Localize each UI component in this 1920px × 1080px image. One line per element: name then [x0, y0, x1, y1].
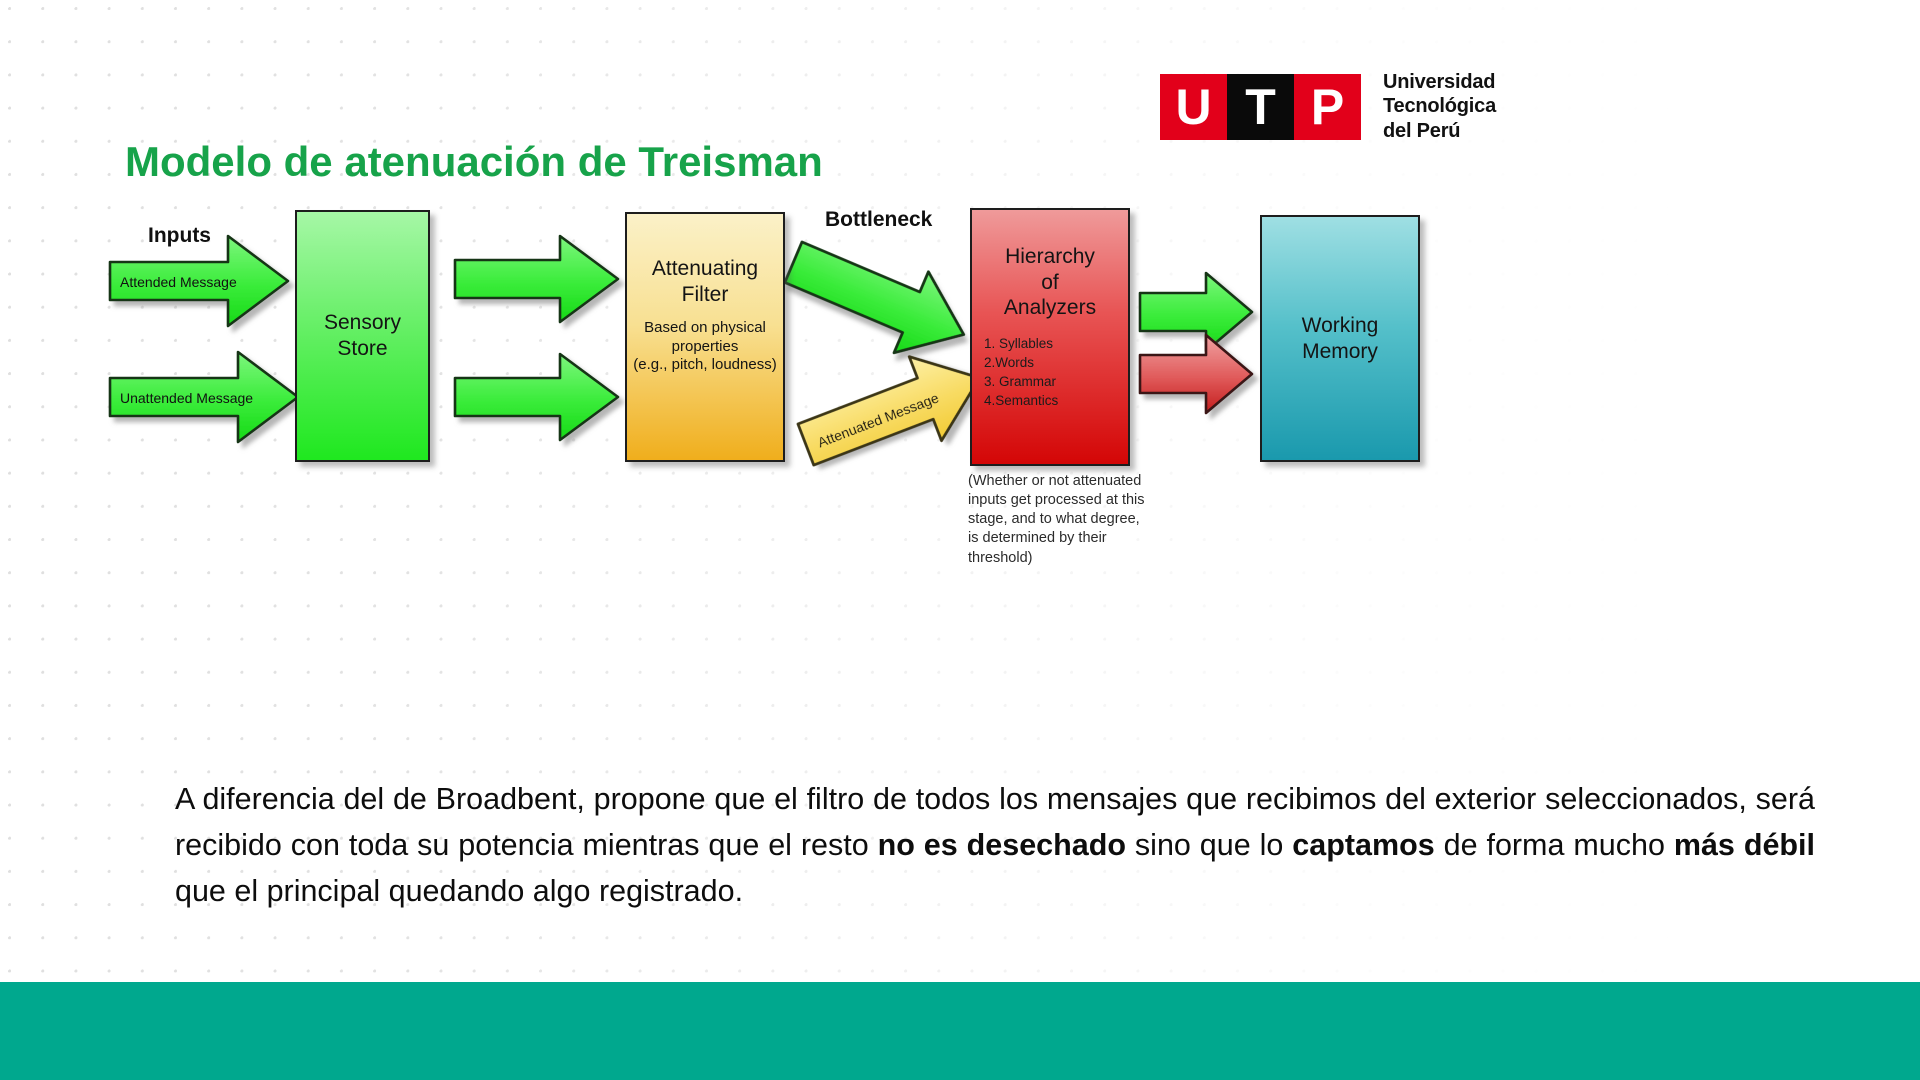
utp-logo-mark: U T P — [1160, 74, 1361, 140]
diagram-label-inputs: Inputs — [148, 224, 211, 248]
logo-word-line-3: del Perú — [1383, 119, 1496, 143]
hierarchy-title-line-2: of — [1041, 270, 1059, 296]
paragraph-part-2: sino que lo — [1126, 828, 1292, 862]
hierarchy-analyzer-list: 1. Syllables 2.Words 3. Grammar 4.Semant… — [972, 335, 1058, 411]
attenuating-filter-sub-line-3: (e.g., pitch, loudness) — [633, 356, 776, 374]
paragraph-bold-1: no es desechado — [878, 828, 1126, 862]
paragraph-part-4: que el principal quedando algo registrad… — [175, 874, 743, 908]
hierarchy-list-item: 3. Grammar — [984, 373, 1058, 392]
diagram-label-bottleneck: Bottleneck — [825, 208, 932, 232]
attenuating-filter-sub-line-1: Based on physical — [644, 319, 766, 337]
paragraph-bold-2: captamos — [1292, 828, 1434, 862]
arrow-sensory-to-filter-bottom — [455, 354, 618, 440]
hierarchy-list-item: 1. Syllables — [984, 335, 1058, 354]
hierarchy-note-line-4: is determined by their — [968, 529, 1168, 548]
utp-logo: U T P Universidad Tecnológica del Perú — [1160, 70, 1496, 143]
diagram-box-attenuating-filter: Attenuating Filter Based on physical pro… — [625, 212, 785, 462]
hierarchy-title-line-3: Analyzers — [1004, 295, 1096, 321]
utp-logo-wordmark: Universidad Tecnológica del Perú — [1383, 70, 1496, 143]
hierarchy-note-line-1: (Whether or not attenuated — [968, 472, 1168, 491]
slide-canvas: U T P Universidad Tecnológica del Perú M… — [0, 0, 1920, 1080]
hierarchy-note-line-2: inputs get processed at this — [968, 491, 1168, 510]
sensory-store-title-line-1: Sensory — [324, 310, 401, 336]
arrow-attended-message-label: Attended Message — [120, 274, 237, 290]
diagram-box-sensory-store: Sensory Store — [295, 210, 430, 462]
arrow-sensory-to-filter-top — [455, 236, 618, 322]
paragraph-part-3: de forma mucho — [1435, 828, 1674, 862]
sensory-store-title-line-2: Store — [337, 336, 387, 362]
footer-band — [0, 982, 1920, 1080]
treisman-attenuation-diagram: Attended Message Unattended Message At — [110, 200, 1510, 570]
arrow-hierarchy-to-working-green — [1140, 273, 1252, 351]
page-title: Modelo de atenuación de Treisman — [125, 138, 823, 186]
hierarchy-note-line-3: stage, and to what degree, — [968, 510, 1168, 529]
hierarchy-list-item: 2.Words — [984, 354, 1058, 373]
attenuating-filter-sub-line-2: properties — [672, 338, 739, 356]
arrow-attenuated-message: Attenuated Message — [790, 336, 996, 487]
logo-word-line-2: Tecnológica — [1383, 94, 1496, 118]
body-paragraph: A diferencia del de Broadbent, propone q… — [175, 776, 1815, 915]
working-memory-title-line-1: Working — [1302, 313, 1379, 339]
logo-letter-p: P — [1294, 74, 1361, 140]
working-memory-title-line-2: Memory — [1302, 339, 1378, 365]
logo-letter-u: U — [1160, 74, 1227, 140]
diagram-box-hierarchy-of-analyzers: Hierarchy of Analyzers 1. Syllables 2.Wo… — [970, 208, 1130, 466]
arrow-unattended-message-label: Unattended Message — [120, 390, 253, 406]
attenuating-filter-title-line-1: Attenuating — [652, 256, 758, 282]
hierarchy-list-item: 4.Semantics — [984, 392, 1058, 411]
diagram-box-working-memory: Working Memory — [1260, 215, 1420, 462]
logo-letter-t: T — [1227, 74, 1294, 140]
hierarchy-title-line-1: Hierarchy — [1005, 244, 1095, 270]
hierarchy-threshold-note: (Whether or not attenuated inputs get pr… — [968, 472, 1168, 568]
hierarchy-note-line-5: threshold) — [968, 549, 1168, 568]
arrow-bottleneck-green — [776, 222, 981, 375]
attenuating-filter-title-line-2: Filter — [682, 282, 729, 308]
paragraph-bold-3: más débil — [1674, 828, 1815, 862]
arrow-hierarchy-to-working-red — [1140, 335, 1252, 413]
logo-word-line-1: Universidad — [1383, 70, 1496, 94]
